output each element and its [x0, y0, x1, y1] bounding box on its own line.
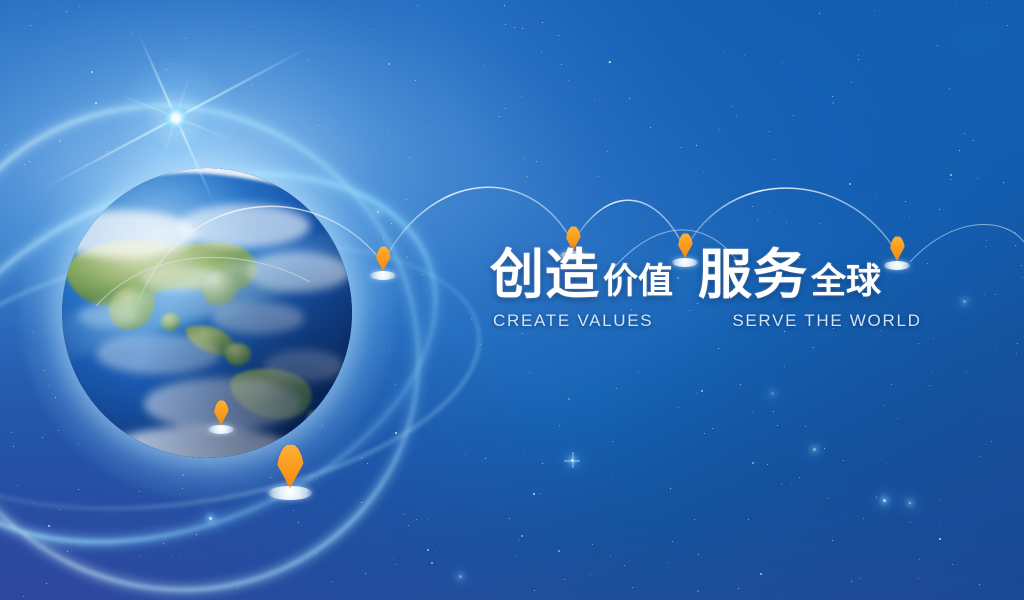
pin-base-icon [208, 425, 234, 434]
headline-primary-a: 创造 [490, 248, 600, 302]
headline-secondary-b: 全球 [811, 264, 881, 299]
headline-primary-b: 服务 [698, 248, 808, 302]
subtitle-a: CREATE VALUES [493, 311, 653, 331]
pin-marker-icon [376, 246, 391, 271]
route-marker-1[interactable] [370, 246, 396, 280]
headline-subtitle-line: CREATE VALUES SERVE THE WORLD [493, 311, 920, 331]
banner-stage: 创造 价值 服务 全球 CREATE VALUES SERVE THE WORL… [0, 0, 1024, 600]
flare-core [163, 105, 189, 131]
pin-marker-icon [277, 444, 304, 488]
headline-secondary-a: 价值 [603, 264, 673, 299]
globe-pin-oceania[interactable] [268, 444, 312, 500]
globe-pin-east-asia[interactable] [208, 400, 234, 434]
pin-marker-icon [214, 400, 229, 425]
headline-main-line: 创造 价值 服务 全球 [490, 248, 920, 302]
headline-block: 创造 价值 服务 全球 CREATE VALUES SERVE THE WORL… [490, 248, 920, 331]
pin-base-icon [370, 271, 396, 280]
subtitle-b: SERVE THE WORLD [732, 311, 921, 331]
pin-base-icon [268, 486, 312, 500]
